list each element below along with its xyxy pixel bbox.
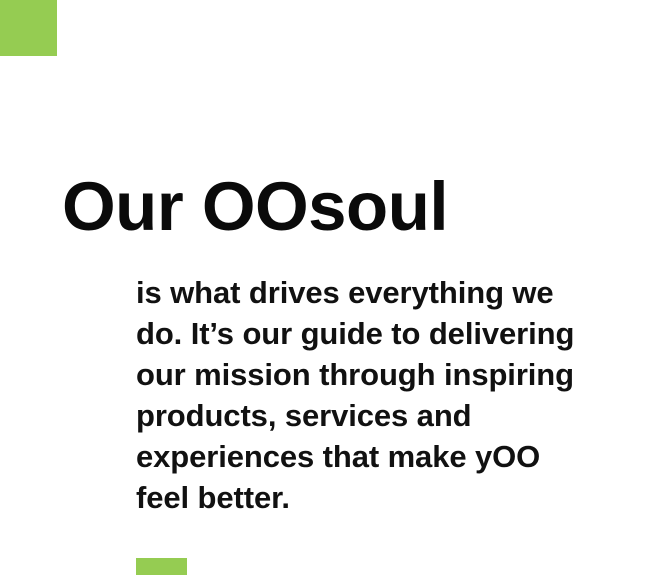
paragraph-line: is what drives everything we — [136, 272, 660, 313]
corner-accent-square — [0, 0, 57, 56]
paragraph-line: our mission through inspiring — [136, 354, 660, 395]
brand-statement-page: Our OOsoul is what drives everything we … — [0, 0, 660, 575]
bottom-accent-bar — [136, 558, 187, 575]
paragraph-line: products, services and — [136, 395, 660, 436]
mission-statement-paragraph: is what drives everything we do. It’s ou… — [136, 272, 660, 518]
paragraph-line: feel better. — [136, 477, 660, 518]
paragraph-line: experiences that make yOO — [136, 436, 660, 477]
page-title: Our OOsoul — [62, 172, 448, 241]
paragraph-line: do. It’s our guide to delivering — [136, 313, 660, 354]
